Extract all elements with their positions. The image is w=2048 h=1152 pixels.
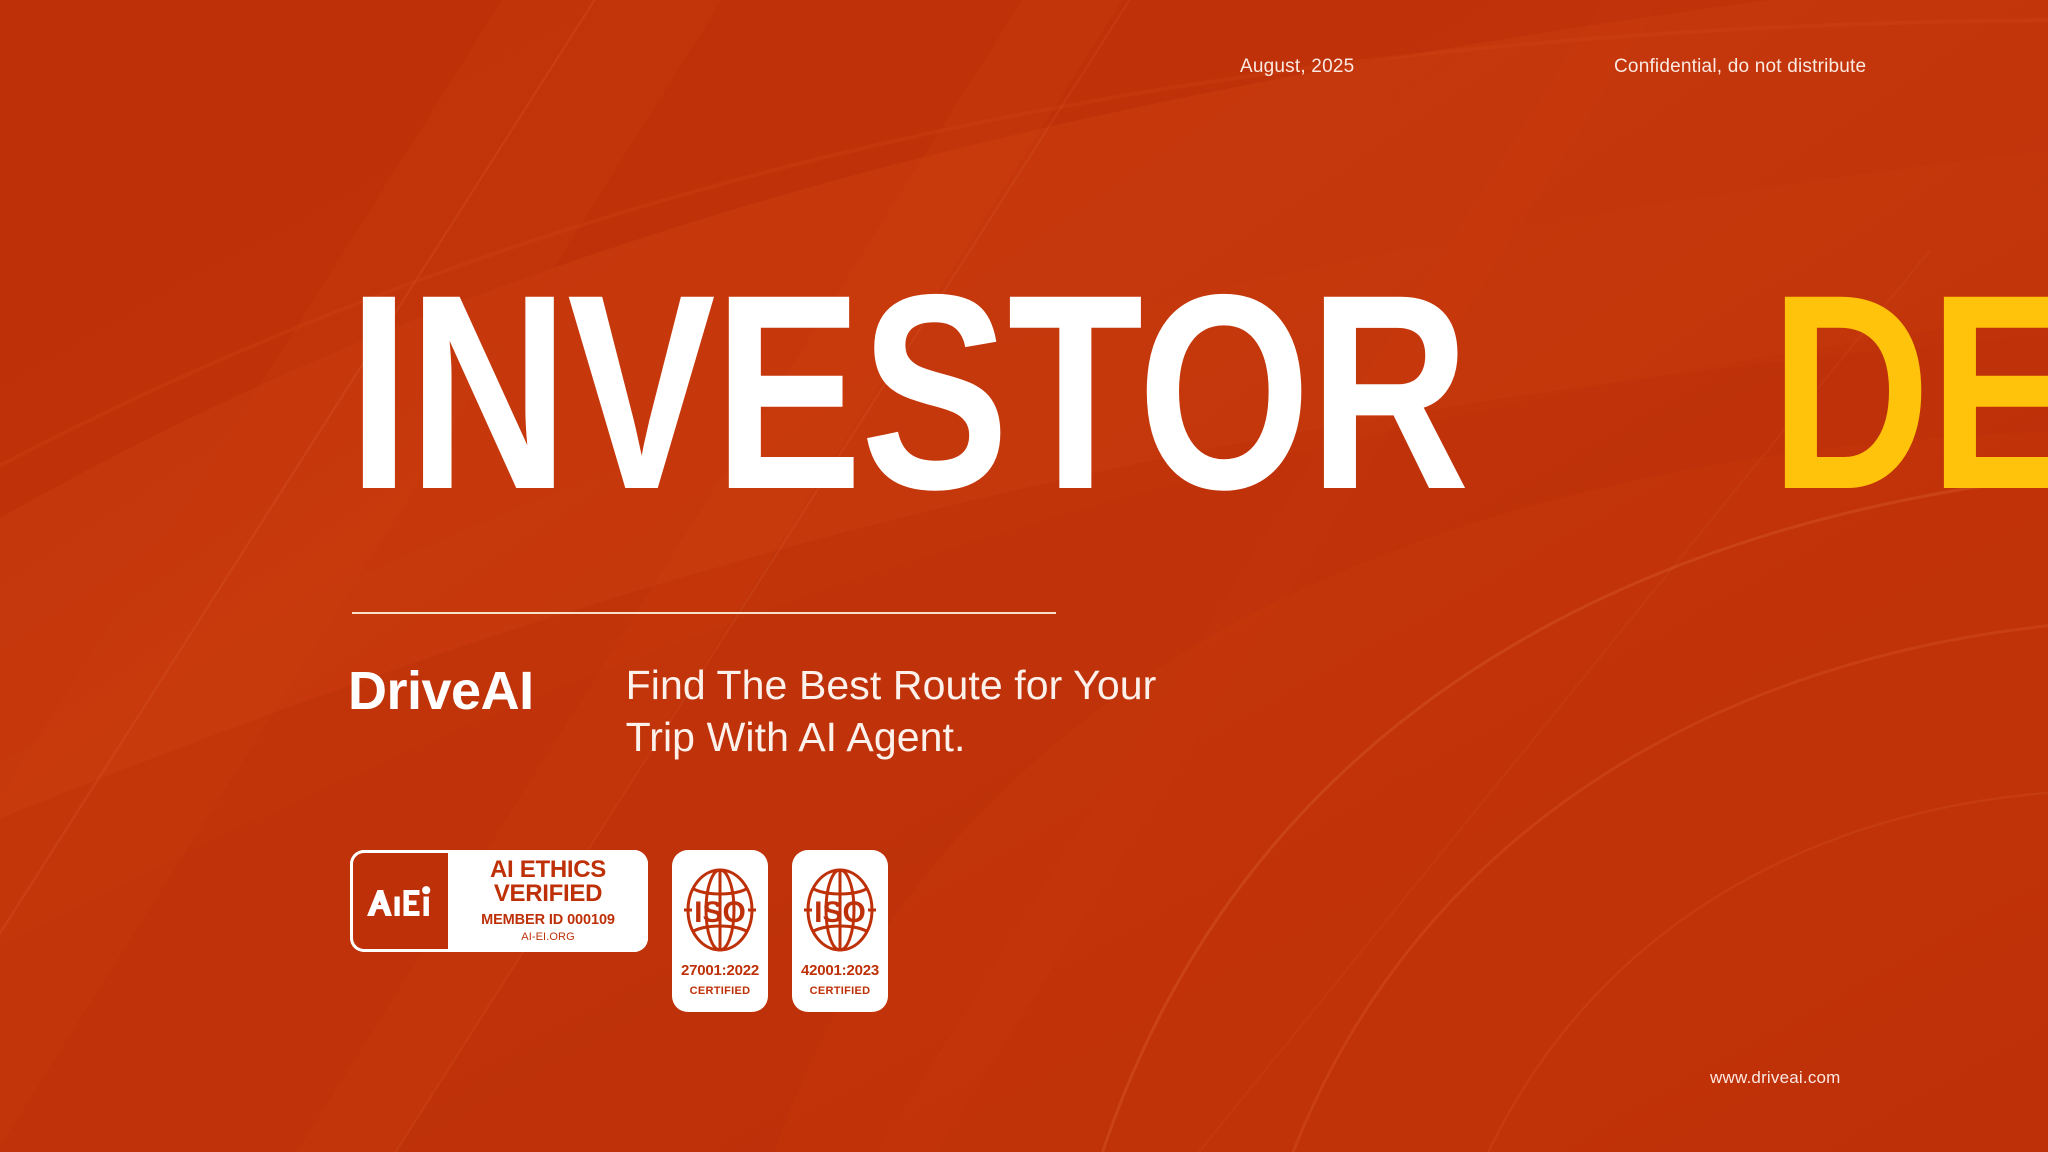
aiei-line-2: VERIFIED [494, 882, 602, 906]
title-word-deck: DECK [1770, 284, 2048, 501]
brand-tagline: Find The Best Route for Your Trip With A… [626, 660, 1157, 763]
title-slide: August, 2025 Confidential, do not distri… [0, 0, 2048, 1152]
certification-badges: AI ETHICS VERIFIED MEMBER ID 000109 AI-E… [350, 850, 888, 1012]
header-date: August, 2025 [1240, 56, 1354, 78]
brand-block: DriveAI Find The Best Route for Your Tri… [348, 660, 1156, 763]
iso-certified-label: CERTIFIED [690, 985, 751, 997]
page-title: INVESTORDECK [348, 284, 2048, 501]
aiei-member-id: MEMBER ID 000109 [481, 912, 615, 928]
iso-globe-icon: ISO [798, 862, 882, 958]
slide-header: August, 2025 Confidential, do not distri… [0, 56, 2048, 88]
aiei-ethics-badge: AI ETHICS VERIFIED MEMBER ID 000109 AI-E… [350, 850, 648, 952]
header-confidentiality-notice: Confidential, do not distribute [1614, 56, 1866, 78]
aiei-domain: AI-EI.ORG [521, 931, 574, 943]
aiei-line-1: AI ETHICS [490, 858, 606, 882]
iso-logo-text: ISO [694, 896, 746, 929]
aiei-badge-text: AI ETHICS VERIFIED MEMBER ID 000109 AI-E… [448, 850, 648, 952]
iso-badge-42001: ISO 42001:2023 CERTIFIED [792, 850, 888, 1012]
title-word-investor: INVESTOR [348, 284, 1468, 501]
iso-standard-number: 42001:2023 [801, 962, 879, 979]
iso-certified-label: CERTIFIED [810, 985, 871, 997]
iso-badge-27001: ISO 27001:2022 CERTIFIED [672, 850, 768, 1012]
title-divider [352, 612, 1056, 614]
iso-logo-text: ISO [814, 896, 866, 929]
footer-website-url[interactable]: www.driveai.com [1710, 1068, 1841, 1088]
iso-standard-number: 27001:2022 [681, 962, 759, 979]
aiei-logo-icon [350, 850, 448, 952]
iso-globe-icon: ISO [678, 862, 762, 958]
background-decoration [0, 0, 2048, 1152]
brand-name: DriveAI [348, 660, 534, 724]
